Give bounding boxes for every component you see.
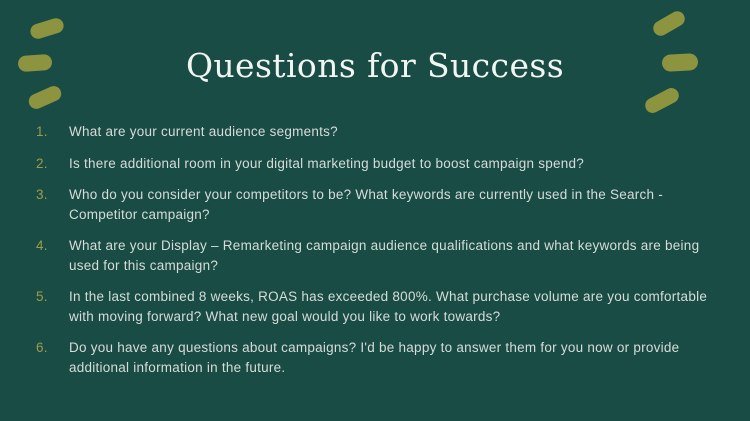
list-item-text: What are your Display – Remarketing camp… — [69, 236, 714, 275]
capsule-shape-icon — [29, 16, 66, 40]
slide-canvas: Questions for Success 1. What are your c… — [0, 0, 750, 421]
list-item-number: 6. — [36, 338, 69, 358]
capsule-shape-icon — [643, 85, 682, 115]
question-list: 1. What are your current audience segmen… — [36, 122, 714, 389]
list-item-text: What are your current audience segments? — [69, 122, 714, 142]
list-item: 3. Who do you consider your competitors … — [36, 185, 714, 224]
list-item-number: 5. — [36, 287, 69, 307]
list-item-text: Is there additional room in your digital… — [69, 154, 714, 174]
capsule-shape-icon — [26, 84, 63, 112]
list-item: 5. In the last combined 8 weeks, ROAS ha… — [36, 287, 714, 326]
list-item-number: 1. — [36, 122, 69, 142]
list-item: 6. Do you have any questions about campa… — [36, 338, 714, 377]
list-item-text: Do you have any questions about campaign… — [69, 338, 714, 377]
list-item-number: 3. — [36, 185, 69, 205]
capsule-shape-icon — [651, 9, 688, 39]
list-item: 2. Is there additional room in your digi… — [36, 154, 714, 174]
list-item-number: 4. — [36, 236, 69, 256]
list-item: 1. What are your current audience segmen… — [36, 122, 714, 142]
list-item-text: In the last combined 8 weeks, ROAS has e… — [69, 287, 714, 326]
list-item-number: 2. — [36, 154, 69, 174]
list-item-text: Who do you consider your competitors to … — [69, 185, 714, 224]
list-item: 4. What are your Display – Remarketing c… — [36, 236, 714, 275]
slide-title: Questions for Success — [0, 48, 750, 84]
